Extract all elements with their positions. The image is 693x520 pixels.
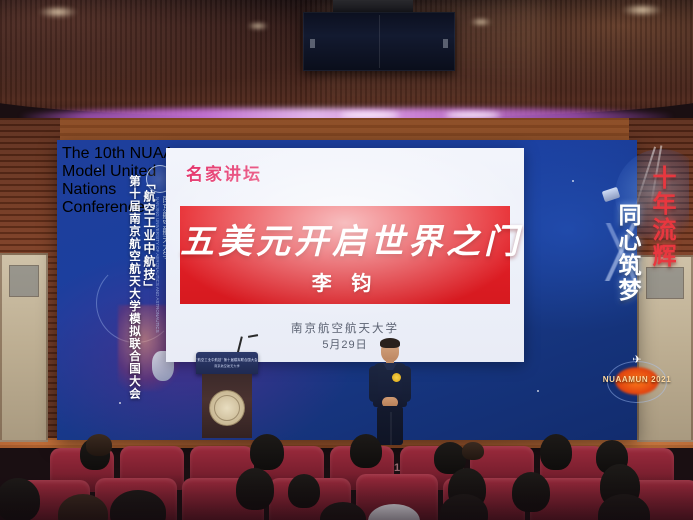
door-window-panel: [9, 265, 39, 297]
banner-headline-main: 第十届南京航空航天大学模拟联合国大会: [126, 175, 142, 400]
downlight-icon: [247, 22, 269, 30]
audience-head: [86, 434, 112, 456]
slide-organization: 南京航空航天大学: [166, 320, 524, 336]
lectern-podium: "航空工业中航技" 第十届模拟联合国大会 南京航空航天大学: [196, 352, 258, 438]
star-icon: [572, 180, 574, 182]
seat-number: 1: [356, 462, 438, 474]
projection-screen: 名家讲坛 五美元开启世界之门 李 钧 南京航空航天大学 5月29日: [166, 148, 524, 362]
auditorium-scene: 南京航空航天大学 NANJING UNIVERSITY OF AERONAUTI…: [0, 0, 693, 520]
slide-title: 五美元开启世界之门: [180, 214, 510, 263]
nuaamun-logo: ✈ NUAAMUN 2021: [600, 353, 674, 409]
downlight-icon: [621, 4, 663, 16]
podium-university-seal-icon: [209, 390, 245, 426]
audience-foreground-shadow: [0, 474, 693, 520]
speaker-right-arm: [402, 366, 411, 402]
banner-line-white: 同心筑梦: [611, 203, 645, 303]
airplane-icon: ✈: [632, 353, 641, 366]
slide-red-band: 五美元开启世界之门 李 钧: [180, 206, 510, 304]
av-indicator-right-icon: [443, 39, 448, 48]
downlight-icon: [470, 18, 492, 26]
left-banner: 南京航空航天大学 NANJING UNIVERSITY OF AERONAUTI…: [62, 145, 180, 437]
slide-kicker: 名家讲坛: [186, 160, 262, 185]
podium-sign-line1: "航空工业中航技" 第十届模拟联合国大会: [196, 357, 258, 362]
audience-head: [462, 442, 484, 460]
star-icon: [537, 390, 539, 392]
audience-head: [250, 434, 284, 470]
audience-area: 3 1: [0, 430, 693, 520]
left-exit-door[interactable]: [0, 253, 48, 442]
banner-line-red: 十年流辉: [644, 165, 679, 269]
banner-headline-quoted: 「航空工业中航技」: [141, 177, 158, 294]
av-indicator-left-icon: [310, 39, 315, 48]
right-banner: 十年流辉 同心筑梦 ✈ NUAAMUN 2021: [585, 145, 689, 437]
speaker-hair: [380, 338, 400, 348]
slide-date: 5月29日: [166, 336, 524, 352]
podium-sign-line2: 南京航空航天大学: [196, 364, 258, 368]
seal-inner-ring: [214, 395, 240, 421]
speaker-left-arm: [369, 366, 378, 402]
downlight-icon: [38, 6, 78, 18]
podium-sign: "航空工业中航技" 第十届模拟联合国大会 南京航空航天大学: [196, 352, 258, 374]
audience-head: [540, 434, 572, 470]
shirt-emblem-icon: [392, 373, 401, 382]
ceiling-av-speaker-unit: [303, 12, 455, 71]
slide-speaker-name: 李 钧: [180, 267, 510, 296]
logo-text: NUAAMUN 2021: [600, 375, 674, 384]
